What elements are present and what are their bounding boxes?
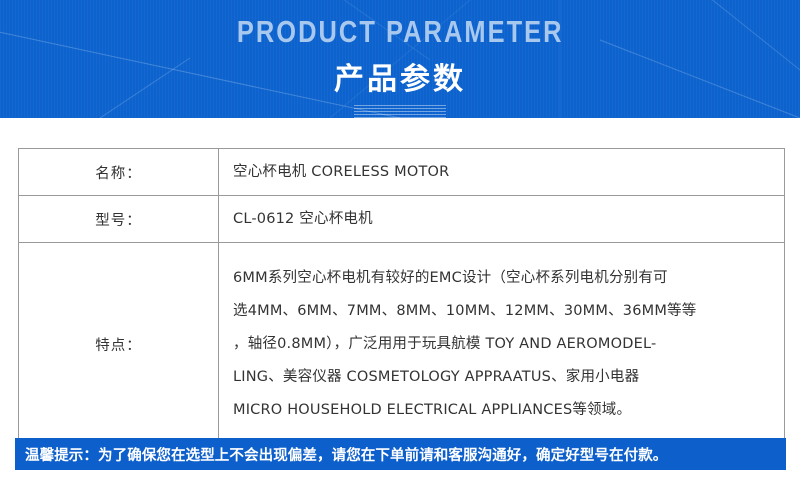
banner-title-english: PRODUCT PARAMETER xyxy=(237,14,564,50)
banner-stripe-decoration xyxy=(354,105,446,118)
table-row: 特点： 6MM系列空心杯电机有较好的EMC设计（空心杯系列电机分别有可 选4MM… xyxy=(19,243,785,446)
feature-line: LING、美容仪器 COSMETOLOGY APPRAATUS、家用小电器 xyxy=(233,361,780,394)
table-row: 名称： 空心杯电机 CORELESS MOTOR xyxy=(19,149,785,196)
warm-tips-notice: 温馨提示：为了确保您在选型上不会出现偏差，请您在下单前请和客服沟通好，确定好型号… xyxy=(15,438,786,470)
row-label-model: 型号： xyxy=(19,196,219,243)
feature-line: 选4MM、6MM、7MM、8MM、10MM、12MM、30MM、36MM等等 xyxy=(233,295,780,328)
table-row: 型号： CL-0612 空心杯电机 xyxy=(19,196,785,243)
row-value-features: 6MM系列空心杯电机有较好的EMC设计（空心杯系列电机分别有可 选4MM、6MM… xyxy=(219,243,785,446)
row-label-features: 特点： xyxy=(19,243,219,446)
row-label-name: 名称： xyxy=(19,149,219,196)
row-value-name: 空心杯电机 CORELESS MOTOR xyxy=(219,149,785,196)
feature-line: MICRO HOUSEHOLD ELECTRICAL APPLIANCES等领域… xyxy=(233,394,780,427)
feature-line: 6MM系列空心杯电机有较好的EMC设计（空心杯系列电机分别有可 xyxy=(233,262,780,295)
feature-line: ，轴径0.8MM），广泛用用于玩具航模 TOY AND AEROMODEL- xyxy=(233,328,780,361)
product-parameter-table: 名称： 空心杯电机 CORELESS MOTOR 型号： CL-0612 空心杯… xyxy=(18,148,785,446)
product-parameter-banner: PRODUCT PARAMETER 产品参数 xyxy=(0,0,800,118)
row-value-model: CL-0612 空心杯电机 xyxy=(219,196,785,243)
banner-title-chinese: 产品参数 xyxy=(334,54,466,98)
